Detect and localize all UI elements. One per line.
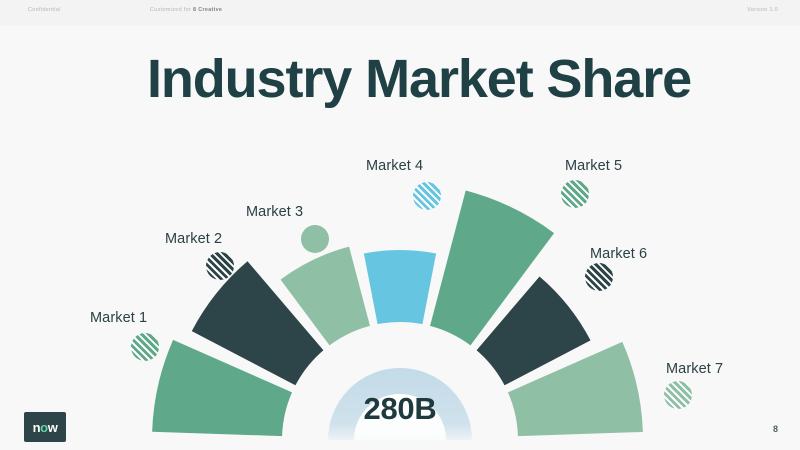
chart-wedge-market-4[interactable] — [364, 250, 436, 324]
slide-canvas: Confidential Customized for 8 Creative V… — [0, 0, 800, 450]
legend-label: Market 6 — [590, 246, 647, 262]
legend-swatch-icon — [585, 263, 613, 291]
legend-label: Market 3 — [246, 204, 303, 220]
logo-text-post: w — [48, 420, 58, 435]
brand-logo: now — [24, 412, 66, 442]
legend-label: Market 7 — [666, 361, 723, 377]
legend-swatch-icon — [664, 381, 692, 409]
legend-label: Market 2 — [165, 231, 222, 247]
legend-swatch-icon — [131, 333, 159, 361]
legend-label: Market 1 — [90, 310, 147, 326]
legend-label: Market 5 — [565, 158, 622, 174]
legend-label: Market 4 — [366, 158, 423, 174]
brand-logo-text: now — [33, 421, 58, 434]
legend-swatch-icon — [301, 225, 329, 253]
legend-swatch-icon — [206, 252, 234, 280]
logo-text-accent: o — [40, 420, 48, 435]
legend-swatch-icon — [561, 180, 589, 208]
logo-text-pre: n — [33, 420, 41, 435]
legend-swatch-icon — [413, 182, 441, 210]
page-number: 8 — [773, 424, 778, 434]
